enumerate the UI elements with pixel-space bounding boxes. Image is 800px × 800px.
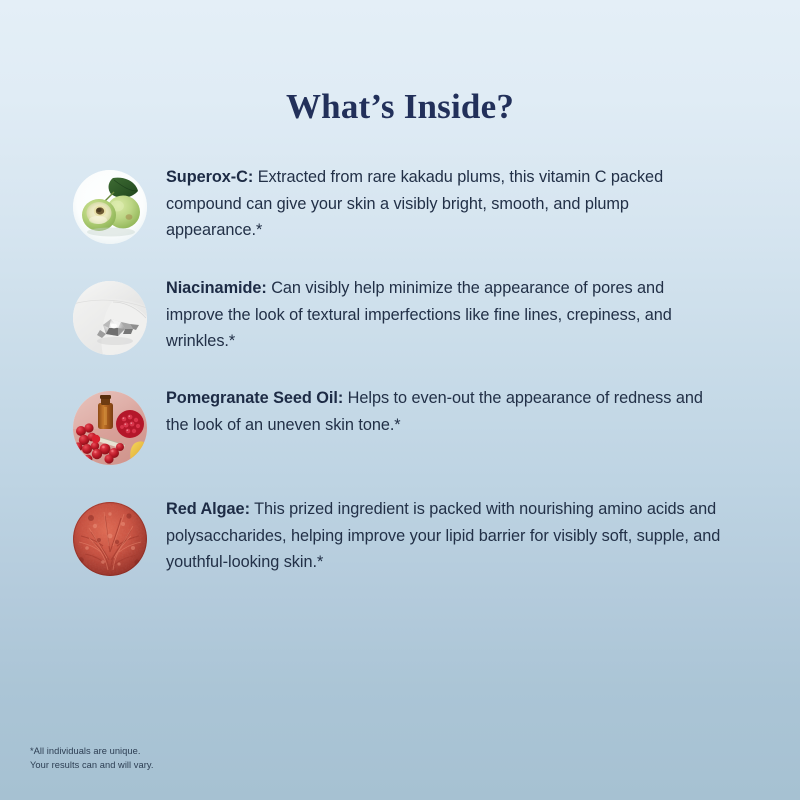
ingredient-name: Superox-C: — [166, 168, 253, 186]
red-algae-photo — [73, 502, 147, 576]
ingredient-name: Pomegranate Seed Oil: — [166, 389, 343, 407]
ingredient-name: Niacinamide: — [166, 279, 267, 297]
ingredient-row: Superox-C: Extracted from rare kakadu pl… — [0, 163, 800, 274]
ingredient-list: Superox-C: Extracted from rare kakadu pl… — [0, 163, 800, 605]
ingredients-panel: What’s Inside? — [0, 0, 800, 800]
pomegranate-seed-oil-photo — [73, 391, 147, 465]
ingredient-name: Red Algae: — [166, 500, 250, 518]
ingredient-text: Niacinamide: Can visibly help minimize t… — [166, 274, 724, 355]
ingredient-text: Pomegranate Seed Oil: Helps to even-out … — [166, 384, 724, 438]
ingredient-row: Niacinamide: Can visibly help minimize t… — [0, 274, 800, 384]
page-title: What’s Inside? — [0, 88, 800, 127]
ingredient-description: This prized ingredient is packed with no… — [166, 500, 720, 571]
ingredient-text: Red Algae: This prized ingredient is pac… — [166, 495, 724, 576]
kakadu-plum-photo — [73, 170, 147, 244]
ingredient-text: Superox-C: Extracted from rare kakadu pl… — [166, 163, 724, 244]
footnote-line-1: *All individuals are unique. — [30, 745, 154, 759]
ingredient-row: Red Algae: This prized ingredient is pac… — [0, 495, 800, 605]
niacinamide-crystal-photo — [73, 281, 147, 355]
footnote: *All individuals are unique. Your result… — [30, 745, 154, 772]
ingredient-row: Pomegranate Seed Oil: Helps to even-out … — [0, 384, 800, 495]
footnote-line-2: Your results can and will vary. — [30, 759, 154, 773]
